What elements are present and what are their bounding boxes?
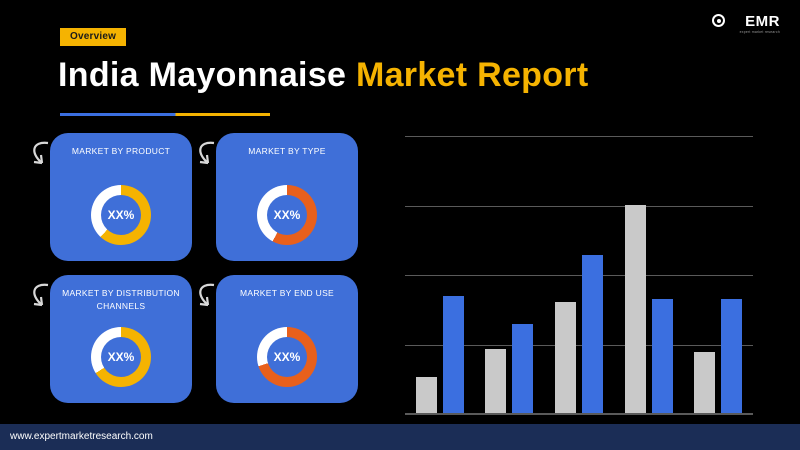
- chart-axis-line: [405, 413, 753, 414]
- donut-chart: XX%: [91, 185, 151, 245]
- card-market-by-product[interactable]: MARKET BY PRODUCT XX%: [50, 133, 192, 261]
- emr-logo: EMR expert market research: [712, 12, 782, 42]
- card-market-by-type[interactable]: MARKET BY TYPE XX%: [216, 133, 358, 261]
- bar-chart: [405, 136, 753, 414]
- donut-value: XX%: [257, 327, 317, 387]
- chart-gridline: [405, 206, 753, 207]
- card-title: MARKET BY END USE: [222, 287, 352, 300]
- chart-bar: [443, 296, 464, 413]
- donut-value: XX%: [257, 185, 317, 245]
- logo-dot-icon: [717, 19, 721, 23]
- title-underline-rule: [60, 113, 270, 116]
- card-market-by-end-use[interactable]: MARKET BY END USE XX%: [216, 275, 358, 403]
- page-title-main: India Mayonnaise: [58, 56, 356, 94]
- card-title: MARKET BY TYPE: [222, 145, 352, 158]
- donut-chart: XX%: [91, 327, 151, 387]
- overview-badge: Overview: [60, 28, 126, 46]
- footer-bar: www.expertmarketresearch.com: [0, 424, 800, 450]
- page-title-accent: Market Report: [356, 56, 589, 94]
- chart-bar: [485, 349, 506, 413]
- chart-bar: [652, 299, 673, 413]
- card-title: MARKET BY DISTRIBUTION CHANNELS: [56, 287, 186, 313]
- card-market-by-distribution-channels[interactable]: MARKET BY DISTRIBUTION CHANNELS XX%: [50, 275, 192, 403]
- footer-url: www.expertmarketresearch.com: [10, 431, 153, 442]
- segment-cards-group: MARKET BY PRODUCT XX% MARKET BY TYPE XX%…: [50, 133, 360, 403]
- donut-chart: XX%: [257, 185, 317, 245]
- card-title: MARKET BY PRODUCT: [56, 145, 186, 158]
- donut-value: XX%: [91, 327, 151, 387]
- chart-gridline: [405, 275, 753, 276]
- donut-value: XX%: [91, 185, 151, 245]
- chart-bar: [582, 255, 603, 413]
- chart-bar: [416, 377, 437, 413]
- chart-bar: [694, 352, 715, 413]
- page-title: India Mayonnaise Market Report: [58, 56, 588, 95]
- chart-bar: [625, 205, 646, 414]
- chart-bar: [555, 302, 576, 413]
- chart-bar: [512, 324, 533, 413]
- chart-gridline: [405, 136, 753, 137]
- chart-bar: [721, 299, 742, 413]
- donut-chart: XX%: [257, 327, 317, 387]
- chart-gridline: [405, 414, 753, 415]
- logo-tagline: expert market research: [740, 30, 780, 34]
- logo-name: EMR: [745, 13, 780, 30]
